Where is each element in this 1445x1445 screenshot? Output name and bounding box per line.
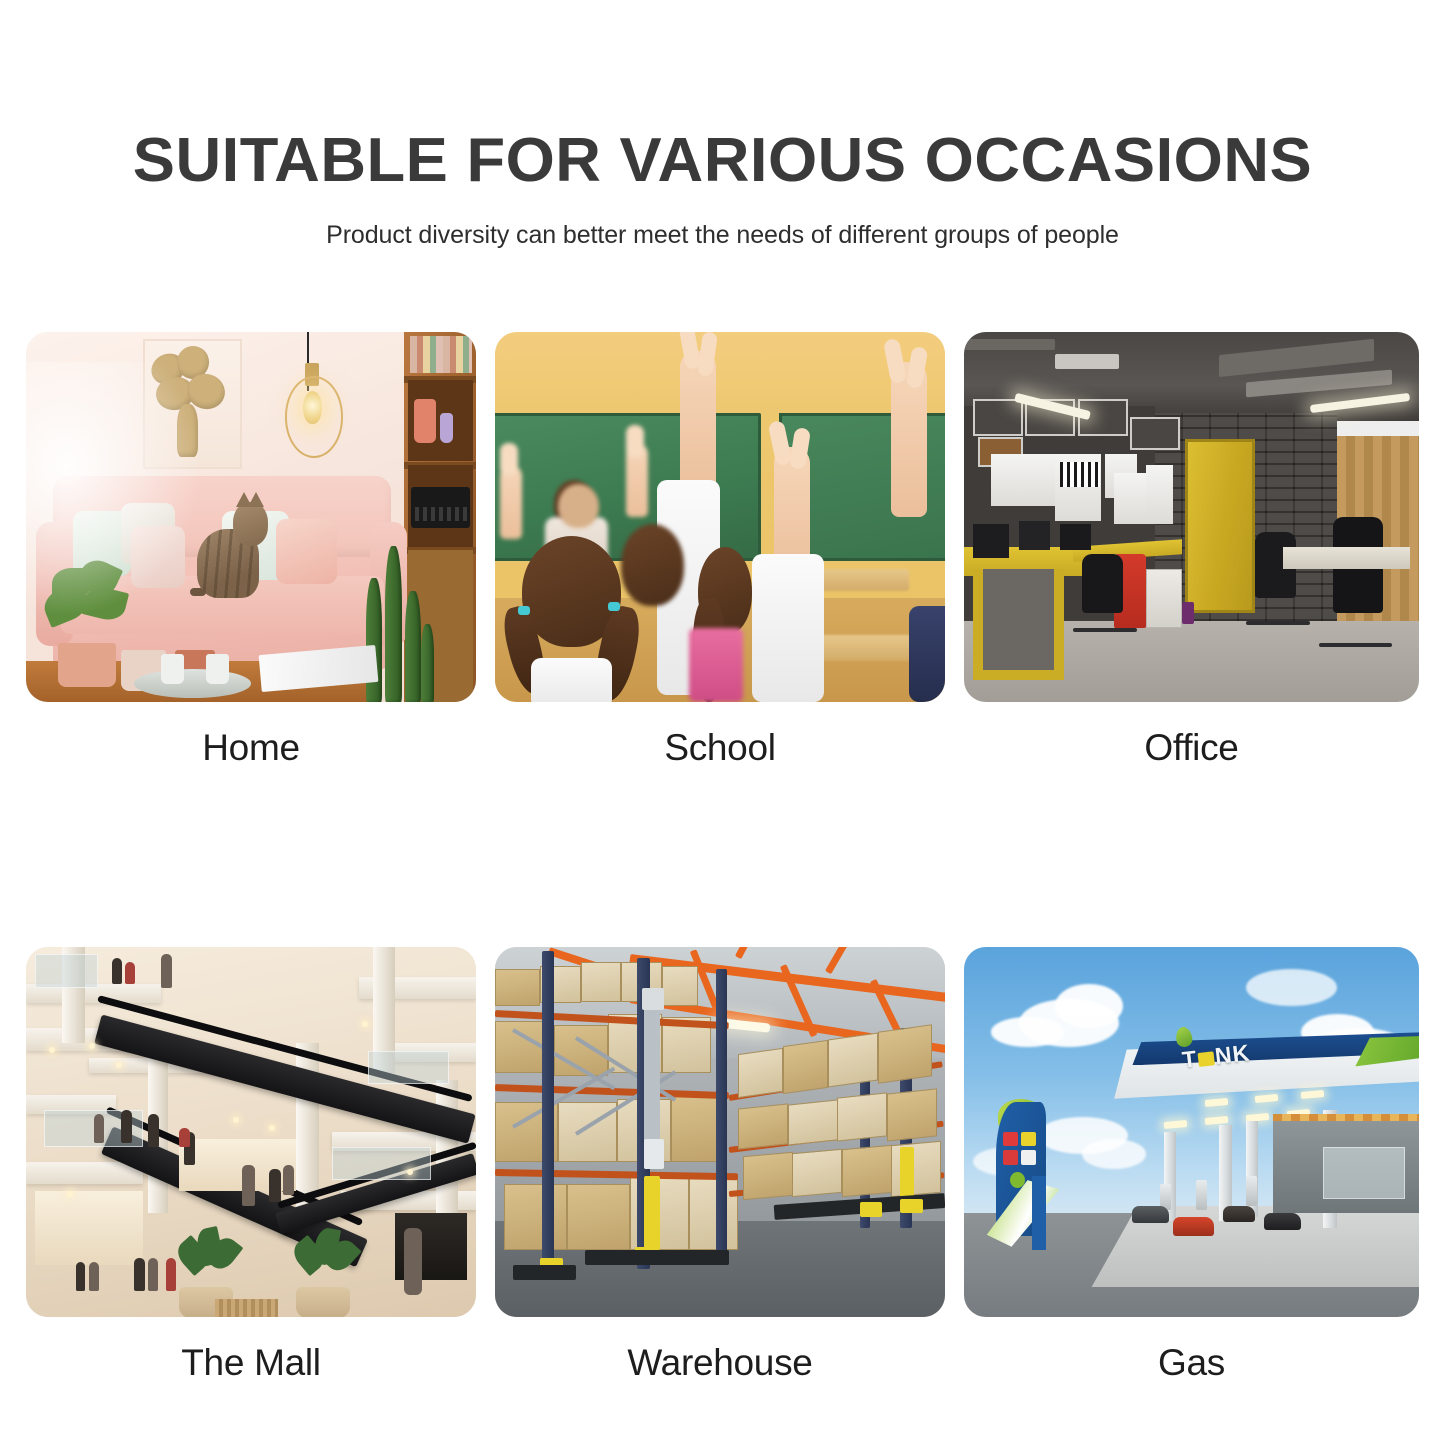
page-title: SUITABLE FOR VARIOUS OCCASIONS: [0, 128, 1445, 193]
occasion-card-home[interactable]: Home: [26, 332, 476, 769]
home-image: [26, 332, 476, 702]
occasions-grid: Home: [26, 332, 1420, 1384]
caption-home: Home: [26, 727, 476, 769]
occasion-card-office[interactable]: Office: [964, 332, 1419, 769]
occasion-card-warehouse[interactable]: Warehouse: [495, 947, 945, 1384]
infographic-page: SUITABLE FOR VARIOUS OCCASIONS Product d…: [0, 0, 1445, 1445]
caption-mall: The Mall: [26, 1342, 476, 1384]
caption-school: School: [495, 727, 945, 769]
mall-image: [26, 947, 476, 1317]
gas-image: TNK: [964, 947, 1419, 1317]
page-header: SUITABLE FOR VARIOUS OCCASIONS Product d…: [0, 0, 1445, 250]
office-image: [964, 332, 1419, 702]
caption-gas: Gas: [964, 1342, 1419, 1384]
occasion-card-gas[interactable]: TNK: [964, 947, 1419, 1384]
warehouse-image: [495, 947, 945, 1317]
caption-office: Office: [964, 727, 1419, 769]
caption-warehouse: Warehouse: [495, 1342, 945, 1384]
occasion-card-school[interactable]: School: [495, 332, 945, 769]
occasion-card-mall[interactable]: The Mall: [26, 947, 476, 1384]
school-image: [495, 332, 945, 702]
page-subtitle: Product diversity can better meet the ne…: [0, 221, 1445, 250]
